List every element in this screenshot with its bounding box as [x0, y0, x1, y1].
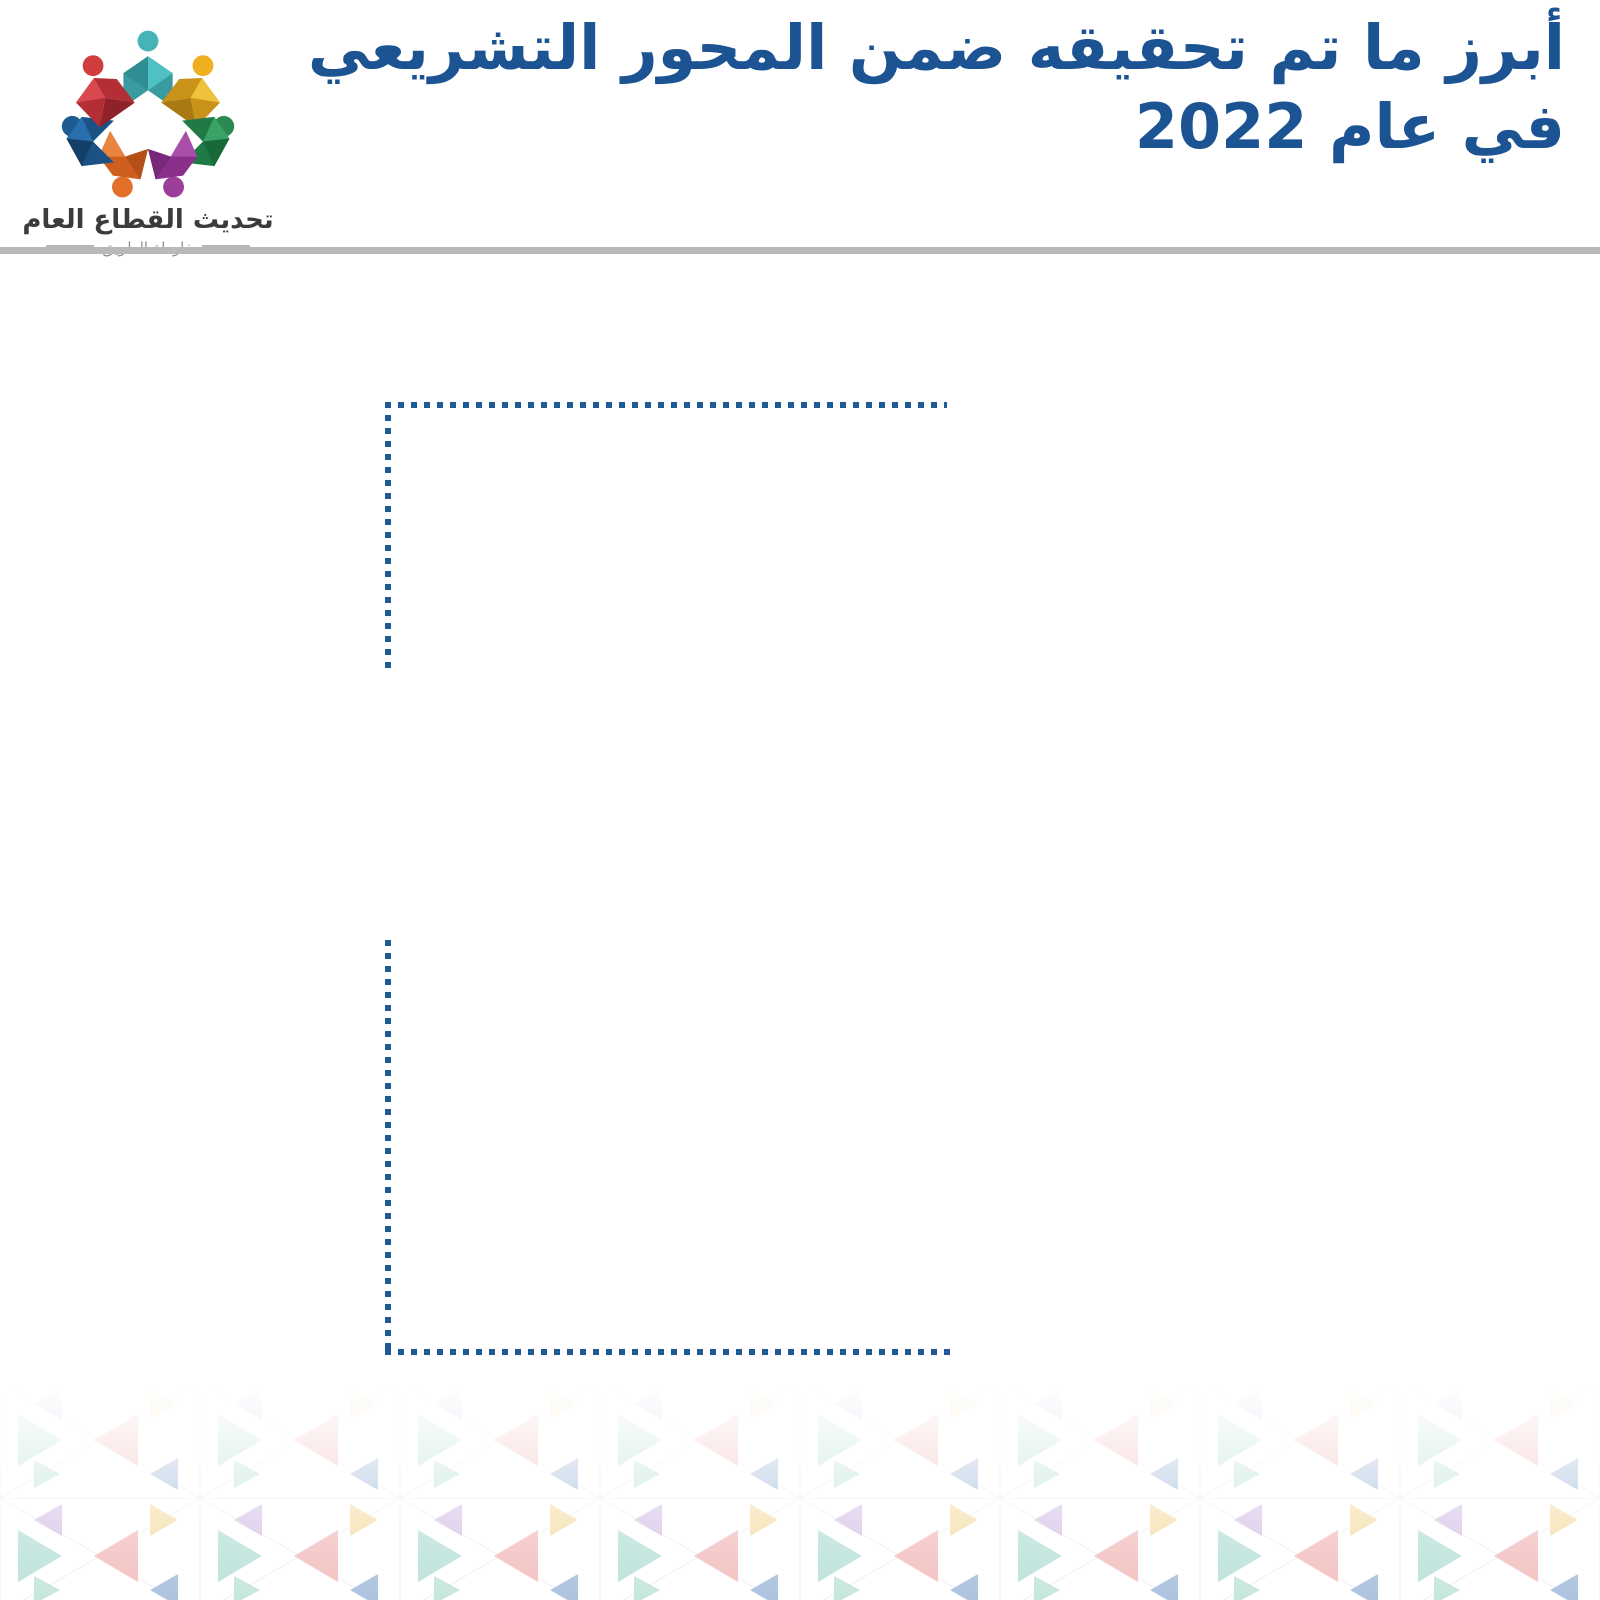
connector-top-horizontal — [385, 402, 947, 408]
connector-bottom-horizontal — [385, 1349, 950, 1355]
infographic-page: تحديث القطاع العام خارطة الطريق أبرز ما … — [0, 0, 1600, 1600]
bottom-decorative-pattern — [0, 1382, 1600, 1600]
pastel-triangles-pattern-icon — [0, 1382, 1600, 1600]
logo-title: تحديث القطاع العام — [18, 206, 278, 235]
header-divider — [0, 247, 1600, 254]
logo-block: تحديث القطاع العام خارطة الطريق — [18, 18, 278, 248]
header: تحديث القطاع العام خارطة الطريق أبرز ما … — [0, 0, 1600, 252]
page-title: أبرز ما تم تحقيقه ضمن المحور التشريعي في… — [300, 8, 1565, 167]
people-circle-logo-icon — [53, 24, 243, 204]
connector-lower-vertical — [385, 940, 391, 1355]
connector-upper-vertical — [385, 402, 391, 672]
